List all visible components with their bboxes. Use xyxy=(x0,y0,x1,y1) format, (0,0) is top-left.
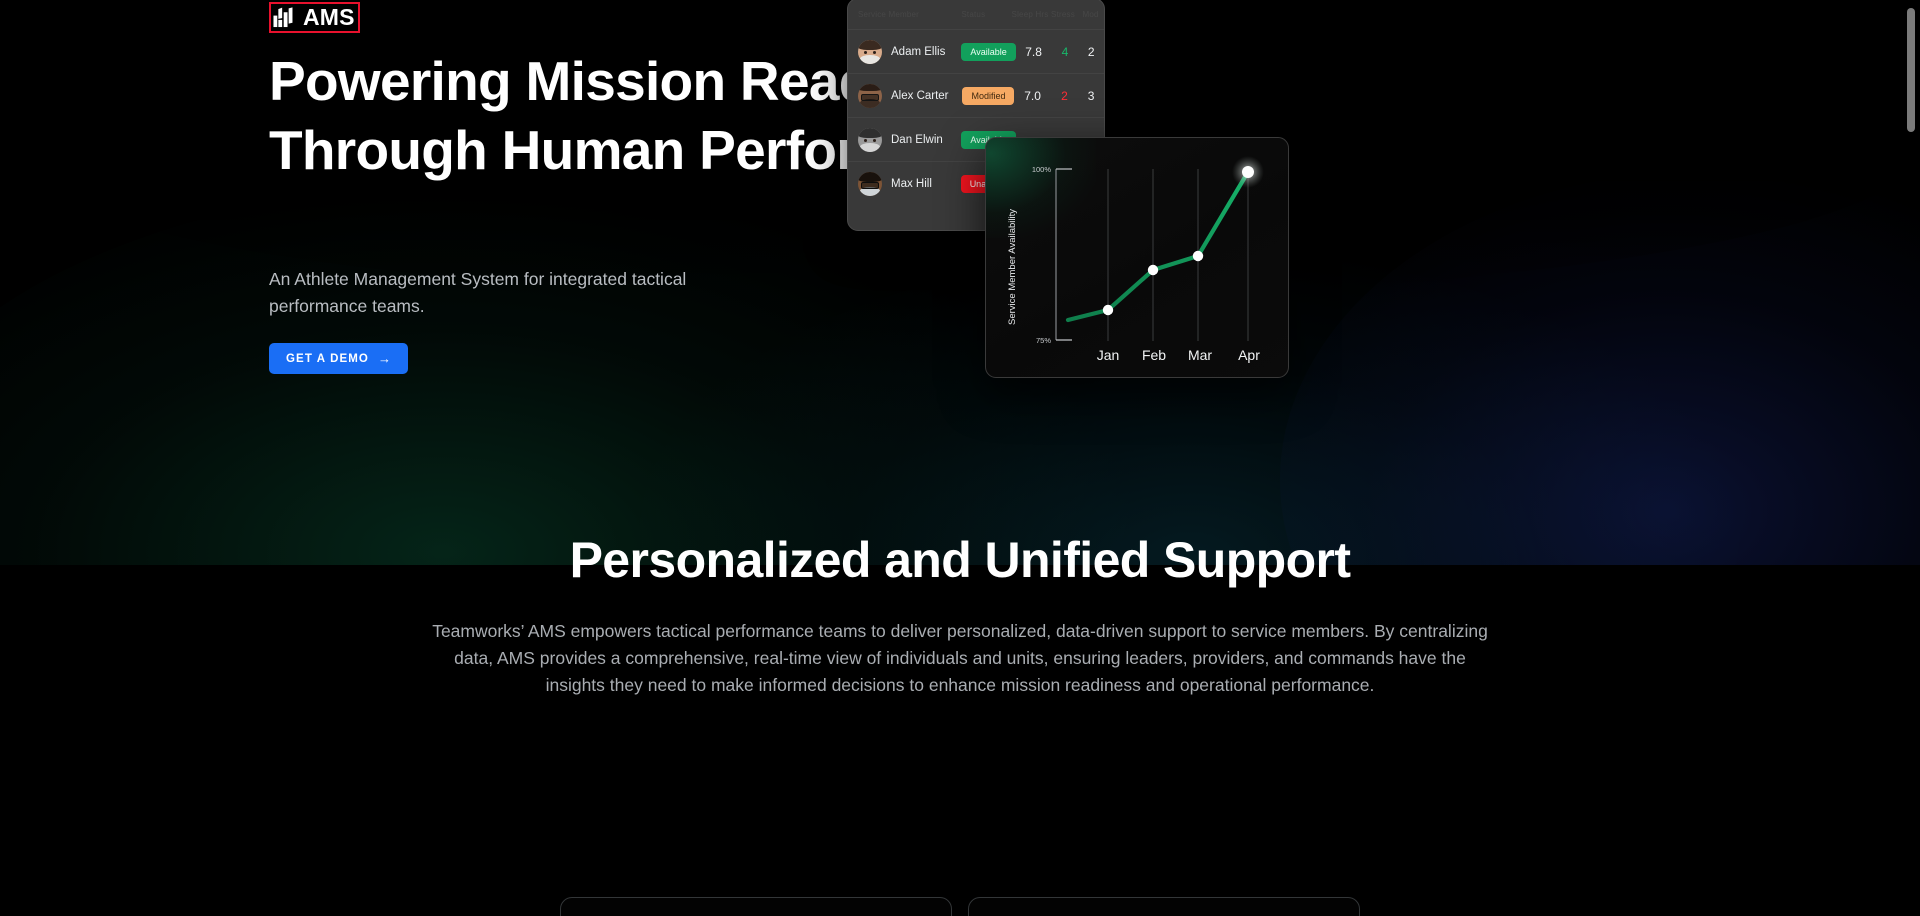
column-header-stress: Stress xyxy=(1049,10,1078,19)
stress-value: 4 xyxy=(1051,45,1078,59)
y-axis-title: Service Member Availability xyxy=(1007,209,1018,325)
mod-value: 3 xyxy=(1078,89,1104,103)
member-name: Max Hill xyxy=(891,178,961,190)
member-name: Dan Elwin xyxy=(891,134,961,146)
brand-logo[interactable]: AMS xyxy=(269,2,360,33)
avatar xyxy=(858,128,882,152)
x-tick-label-apr: Apr xyxy=(1238,347,1260,363)
stress-value: 2 xyxy=(1051,89,1079,103)
status-badge: Available xyxy=(961,43,1015,61)
page-scrollbar[interactable] xyxy=(1906,0,1918,916)
feature-card-left[interactable] xyxy=(560,897,952,916)
brand-wordmark: AMS xyxy=(303,6,355,29)
sleep-hours-value: 7.8 xyxy=(1016,45,1052,59)
scrollbar-thumb[interactable] xyxy=(1907,8,1915,132)
arrow-right-icon: → xyxy=(378,352,392,365)
get-a-demo-button[interactable]: GET A DEMO → xyxy=(269,343,408,374)
roster-table-header: Service Member Status Sleep Hrs Stress M… xyxy=(848,0,1104,29)
y-tick-label-bottom: 75% xyxy=(1036,336,1051,345)
column-header-mod: Mod xyxy=(1077,10,1104,19)
avatar xyxy=(858,40,882,64)
data-point-jan xyxy=(1103,305,1113,315)
mod-value: 2 xyxy=(1079,45,1104,59)
hero-subheadline: An Athlete Management System for integra… xyxy=(269,266,739,320)
data-point-apr xyxy=(1242,166,1254,178)
cta-label: GET A DEMO xyxy=(286,353,369,365)
y-tick-label-top: 100% xyxy=(1032,165,1052,174)
member-name: Adam Ellis xyxy=(891,46,961,58)
personalized-support-section: Personalized and Unified Support Teamwor… xyxy=(0,530,1920,699)
status-badge: Modified xyxy=(962,87,1014,105)
sleep-hours-value: 7.0 xyxy=(1014,89,1050,103)
avatar xyxy=(858,172,882,196)
feature-card-row xyxy=(0,897,1920,916)
feature-card-right[interactable] xyxy=(968,897,1360,916)
column-header-status: Status xyxy=(961,10,1011,19)
member-name: Alex Carter xyxy=(891,90,962,102)
table-row[interactable]: Adam Ellis Available 7.8 4 2 xyxy=(848,29,1104,73)
column-header-sleep-hrs: Sleep Hrs xyxy=(1011,10,1048,19)
availability-chart-card[interactable]: 100% 75% Service Member Availability Jan… xyxy=(985,137,1289,378)
data-point-feb xyxy=(1148,265,1158,275)
column-header-service-member: Service Member xyxy=(858,10,961,19)
ams-bar-mark-icon xyxy=(273,7,294,28)
data-point-mar xyxy=(1193,251,1203,261)
x-tick-label-jan: Jan xyxy=(1097,347,1120,363)
table-row[interactable]: Alex Carter Modified 7.0 2 3 xyxy=(848,73,1104,117)
availability-line-chart: 100% 75% Service Member Availability Jan… xyxy=(986,138,1289,378)
series-line xyxy=(1068,172,1248,320)
x-tick-label-mar: Mar xyxy=(1188,347,1212,363)
avatar xyxy=(858,84,882,108)
x-tick-label-feb: Feb xyxy=(1142,347,1166,363)
glow-green xyxy=(0,180,1130,578)
section-title: Personalized and Unified Support xyxy=(0,530,1920,590)
section-body-text: Teamworks’ AMS empowers tactical perform… xyxy=(430,618,1490,699)
glow-blue xyxy=(1280,170,1920,578)
